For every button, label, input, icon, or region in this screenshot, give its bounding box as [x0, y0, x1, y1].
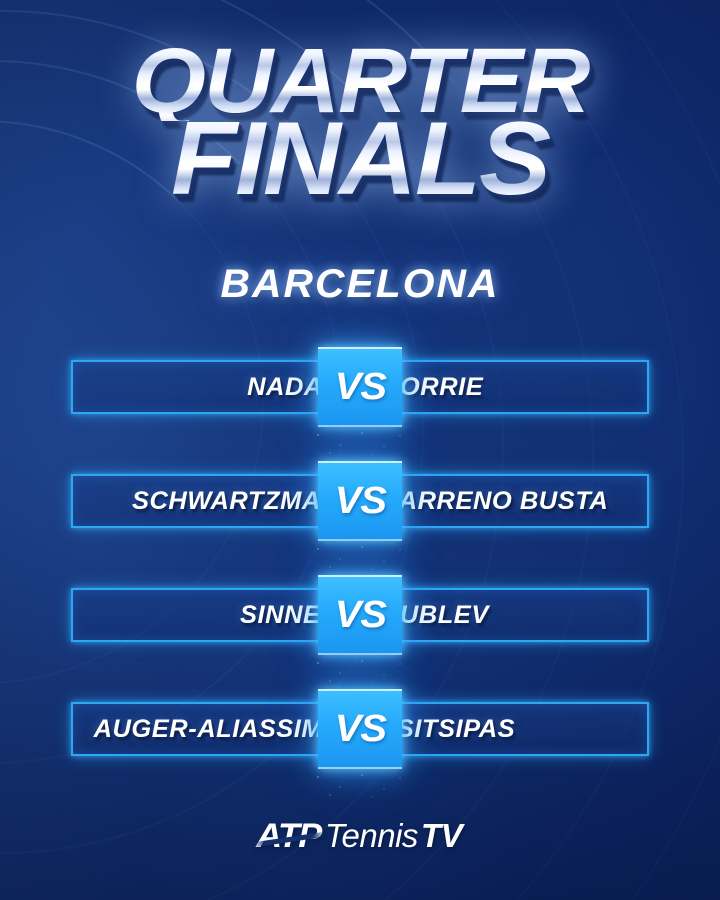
vs-label: VS [334, 594, 385, 637]
tournament-subtitle: BARCELONA [0, 262, 720, 307]
player-name-right: CARRENO BUSTA [380, 474, 609, 528]
match-row[interactable]: SCHWARTZMAN CARRENO BUSTA VS [0, 461, 720, 541]
sparkle-particles [300, 655, 420, 689]
vs-badge: VS [318, 461, 402, 541]
match-row[interactable]: NADAL NORRIE VS [0, 347, 720, 427]
footer: ATP Tennis TV [0, 817, 720, 856]
match-row[interactable]: AUGER-ALIASSIME TSITSIPAS VS [0, 689, 720, 769]
sparkle-particles [300, 769, 420, 803]
player-name-left: SCHWARTZMAN [132, 474, 340, 528]
vs-badge: VS [318, 575, 402, 655]
vs-badge: VS [318, 689, 402, 769]
vs-label: VS [334, 366, 385, 409]
page-title: QUARTER FINALS [0, 42, 720, 205]
vs-label: VS [334, 480, 385, 523]
sparkle-particles [300, 541, 420, 575]
player-name-left: AUGER-ALIASSIME [93, 702, 340, 756]
match-row[interactable]: SINNER RUBLEV VS [0, 575, 720, 655]
atp-tennis-tv-logo[interactable]: ATP Tennis TV [258, 817, 462, 856]
tennis-logo-text: Tennis [325, 817, 418, 855]
tv-logo-text: TV [421, 817, 462, 855]
match-list: NADAL NORRIE VS SCHWARTZMAN CARRENO BUST… [0, 347, 720, 803]
sparkle-particles [300, 427, 420, 461]
vs-badge: VS [318, 347, 402, 427]
atp-logo-text: ATP [256, 817, 323, 856]
vs-label: VS [334, 708, 385, 751]
tournament-poster: QUARTER FINALS BARCELONA NADAL NORRIE VS… [0, 0, 720, 900]
title-line-finals: FINALS [0, 115, 720, 204]
